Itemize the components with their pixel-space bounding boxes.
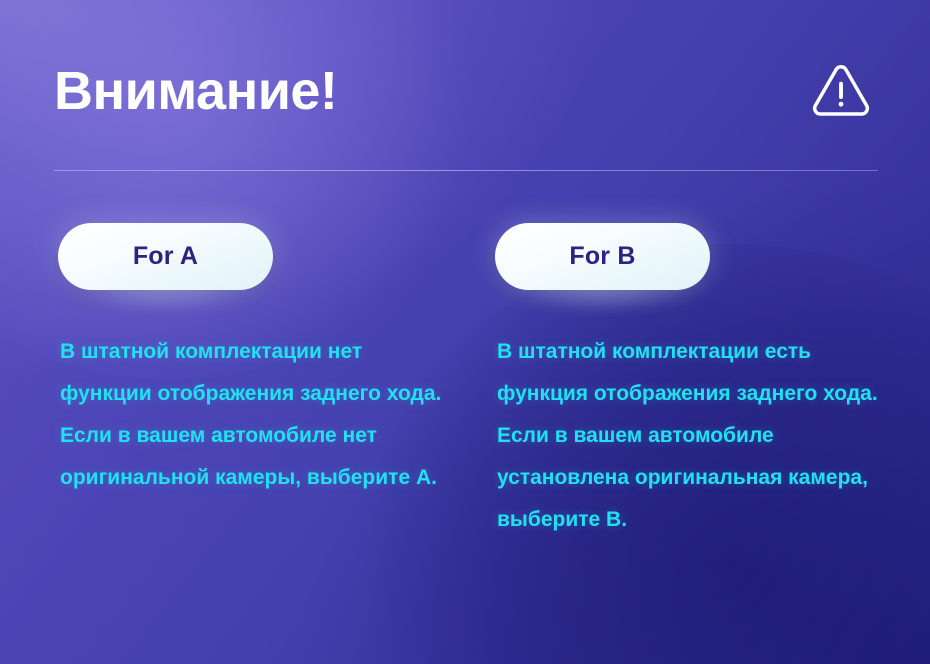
page-title: Внимание!: [54, 64, 337, 118]
paragraph: Если в вашем автомобиле нет оригинальной…: [60, 415, 452, 499]
option-column-for-b: For B В штатной комплектации есть функци…: [495, 223, 895, 290]
pill-wrap-for-b: For B: [495, 223, 710, 290]
pill-label-for-b: For B: [569, 244, 635, 269]
warning-triangle-icon: [810, 60, 872, 122]
option-description-for-a: В штатной комплектации нет функции отобр…: [60, 331, 452, 499]
pill-button-for-b[interactable]: For B: [495, 223, 710, 290]
pill-button-for-a[interactable]: For A: [58, 223, 273, 290]
option-description-for-b: В штатной комплектации есть функция отоб…: [497, 331, 889, 541]
option-column-for-a: For A В штатной комплектации нет функции…: [58, 223, 458, 290]
slide-header: Внимание!: [54, 48, 876, 134]
header-divider: [54, 170, 878, 171]
paragraph: В штатной комплектации есть функция отоб…: [497, 331, 889, 415]
paragraph: В штатной комплектации нет функции отобр…: [60, 331, 452, 415]
warning-slide: Внимание! For A В штатной комплектации н…: [0, 0, 930, 664]
pill-wrap-for-a: For A: [58, 223, 273, 290]
pill-label-for-a: For A: [133, 244, 198, 269]
paragraph: Если в вашем автомобиле установлена ориг…: [497, 415, 889, 541]
